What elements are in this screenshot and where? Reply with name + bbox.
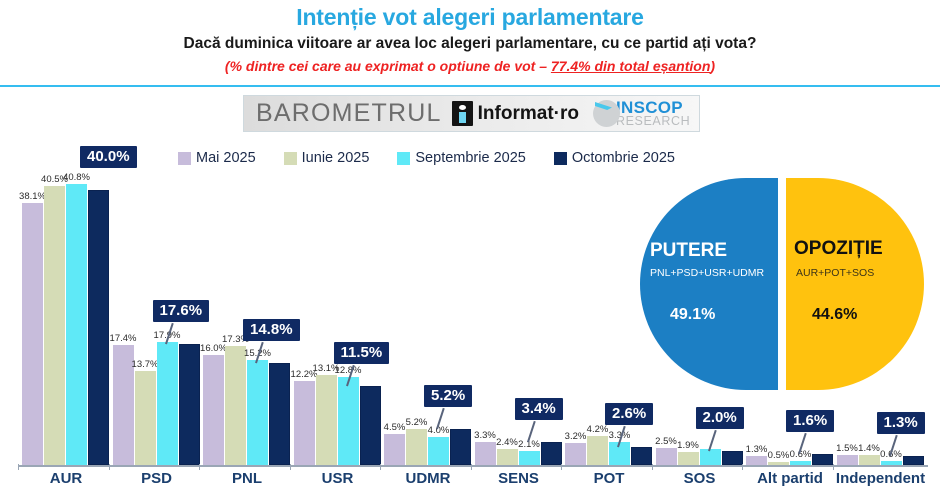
bar-pot-3[interactable]	[631, 447, 652, 465]
bar-psd-1[interactable]: 13.7%	[135, 371, 156, 465]
bar-alt-partid-0[interactable]: 1.3%	[746, 456, 767, 465]
legend-swatch-icon	[284, 152, 297, 165]
bar-value-label: 2.4%	[496, 437, 518, 448]
bar-pot-1[interactable]: 4.2%	[587, 436, 608, 465]
legend-item-1[interactable]: Iunie 2025	[284, 150, 370, 166]
legend-item-0[interactable]: Mai 2025	[178, 150, 256, 166]
legend-label: Septembrie 2025	[415, 150, 525, 166]
bar-pnl-3[interactable]	[269, 363, 290, 465]
highlight-callout-aur: 40.0%	[80, 146, 137, 168]
highlight-callout-udmr: 5.2%	[424, 385, 472, 407]
bar-usr-1[interactable]: 13.1%	[316, 375, 337, 465]
bar-group-psd: 17.4%13.7%17.9%17.6%	[113, 176, 201, 465]
inscop-research-logo: INSCOP RESEARCH	[593, 100, 690, 127]
pie-putere-title: PUTERE	[650, 240, 727, 262]
pie-putere-value: 49.1%	[670, 306, 715, 324]
bar-udmr-1[interactable]: 5.2%	[406, 429, 427, 465]
informat-icon	[452, 101, 473, 126]
bar-sens-0[interactable]: 3.3%	[475, 442, 496, 465]
pie-putere-composition: PNL+PSD+USR+UDMR	[650, 266, 768, 280]
bar-value-label: 5.2%	[406, 417, 428, 428]
bar-aur-1[interactable]: 40.5%	[44, 186, 65, 465]
bar-independent-1[interactable]: 1.4%	[859, 455, 880, 465]
highlight-callout-alt-partid: 1.6%	[786, 410, 834, 432]
bar-group-bars: 38.1%40.5%40.8%	[22, 176, 110, 465]
bar-value-label: 3.2%	[565, 431, 587, 442]
bar-value-label: 17.4%	[110, 333, 137, 344]
informat-ro-logo: Informat·ro	[452, 101, 579, 126]
bar-aur-2[interactable]: 40.8%	[66, 184, 87, 465]
bar-psd-2[interactable]: 17.9%	[157, 342, 178, 465]
legend-swatch-icon	[397, 152, 410, 165]
bar-psd-3[interactable]	[179, 344, 200, 465]
bar-sos-2[interactable]	[700, 449, 721, 465]
bar-value-label: 3.3%	[474, 430, 496, 441]
x-axis-labels: AURPSDPNLUSRUDMRSENSPOTSOSAlt partidInde…	[0, 470, 940, 494]
informat-label: Informat·ro	[478, 103, 579, 125]
bar-alt-partid-3[interactable]	[812, 454, 833, 465]
bar-sos-3[interactable]	[722, 451, 743, 465]
chart-legend: Mai 2025Iunie 2025Septembrie 2025Octombr…	[178, 150, 675, 166]
bar-group-bars: 4.5%5.2%4.0%	[384, 176, 472, 465]
pie-opozitie-composition: AUR+POT+SOS	[796, 266, 920, 280]
bar-alt-partid-1[interactable]: 0.5%	[768, 462, 789, 465]
header-divider	[0, 85, 940, 87]
bar-udmr-3[interactable]	[450, 429, 471, 465]
pie-slice-opozitie: OPOZIȚIE AUR+POT+SOS 44.6%	[786, 178, 924, 390]
bar-value-label: 13.7%	[132, 359, 159, 370]
pie-opozitie-title: OPOZIȚIE	[794, 238, 883, 260]
highlight-callout-independent: 1.3%	[877, 412, 925, 434]
bar-value-label: 2.5%	[655, 436, 677, 447]
highlight-callout-sos: 2.0%	[696, 407, 744, 429]
bar-value-label: 4.5%	[384, 422, 406, 433]
bar-pot-0[interactable]: 3.2%	[565, 443, 586, 465]
bar-group-bars: 12.2%13.1%12.8%	[294, 176, 382, 465]
bar-group-bars: 3.3%2.4%2.1%	[475, 176, 563, 465]
brand-bar: BAROMETRUL Informat·ro INSCOP RESEARCH	[243, 95, 700, 132]
bar-group-udmr: 4.5%5.2%4.0%5.2%	[384, 176, 472, 465]
bar-usr-2[interactable]: 12.8%	[338, 377, 359, 465]
bar-value-label: 4.2%	[587, 424, 609, 435]
pie-slice-putere: PUTERE PNL+PSD+USR+UDMR 49.1%	[640, 178, 778, 390]
highlight-callout-psd: 17.6%	[153, 300, 210, 322]
bar-udmr-2[interactable]: 4.0%	[428, 437, 449, 465]
legend-label: Mai 2025	[196, 150, 256, 166]
bar-sens-2[interactable]: 2.1%	[519, 451, 540, 465]
highlight-callout-sens: 3.4%	[515, 398, 563, 420]
bar-group-usr: 12.2%13.1%12.8%11.5%	[294, 176, 382, 465]
sample-note: (% dintre cei care au exprimat o optiune…	[0, 58, 940, 74]
bar-independent-0[interactable]: 1.5%	[837, 455, 858, 465]
inscop-wordmark: INSCOP RESEARCH	[616, 100, 690, 127]
bar-pnl-2[interactable]: 15.2%	[247, 360, 268, 465]
bar-alt-partid-2[interactable]: 0.6%	[790, 461, 811, 465]
bar-pnl-1[interactable]: 17.3%	[225, 346, 246, 465]
highlight-callout-pnl: 14.8%	[243, 319, 300, 341]
pie-opozitie-value: 44.6%	[812, 306, 857, 324]
bar-value-label: 1.9%	[677, 440, 699, 451]
bar-group-pnl: 16.0%17.3%15.2%14.8%	[203, 176, 291, 465]
bar-independent-2[interactable]: 0.6%	[881, 461, 902, 465]
bar-value-label: 0.5%	[768, 450, 790, 461]
bar-sos-0[interactable]: 2.5%	[656, 448, 677, 465]
bar-value-label: 38.1%	[19, 191, 46, 202]
bar-value-label: 40.8%	[63, 172, 90, 183]
bar-pnl-0[interactable]: 16.0%	[203, 355, 224, 465]
bar-value-label: 1.5%	[836, 443, 858, 454]
header-block: Intenție vot alegeri parlamentare Dacă d…	[0, 0, 940, 86]
bar-usr-0[interactable]: 12.2%	[294, 381, 315, 465]
inscop-circle-icon	[593, 100, 620, 127]
bar-sens-3[interactable]	[541, 442, 562, 465]
bar-usr-3[interactable]	[360, 386, 381, 465]
x-label-independent: Independent	[823, 470, 939, 487]
note-prefix: (% dintre cei care au exprimat o optiune…	[225, 58, 551, 74]
putere-opozitie-pie: PUTERE PNL+PSD+USR+UDMR 49.1% OPOZIȚIE A…	[640, 178, 925, 390]
bar-aur-3[interactable]	[88, 190, 109, 465]
bar-independent-3[interactable]	[903, 456, 924, 465]
legend-label: Iunie 2025	[302, 150, 370, 166]
legend-swatch-icon	[554, 152, 567, 165]
legend-label: Octombrie 2025	[572, 150, 675, 166]
page-subtitle: Dacă duminica viitoare ar avea loc alege…	[0, 35, 940, 53]
bar-group-sens: 3.3%2.4%2.1%3.4%	[475, 176, 563, 465]
bar-value-label: 12.8%	[335, 365, 362, 376]
bar-udmr-0[interactable]: 4.5%	[384, 434, 405, 465]
legend-swatch-icon	[178, 152, 191, 165]
bar-aur-0[interactable]: 38.1%	[22, 203, 43, 465]
highlight-callout-pot: 2.6%	[605, 403, 653, 425]
note-emphasis: 77.4% din total eșantion	[551, 58, 710, 74]
barometrul-wordmark: BAROMETRUL	[256, 99, 442, 128]
bar-pot-2[interactable]: 3.3%	[609, 442, 630, 465]
x-axis-line	[18, 465, 928, 467]
note-suffix: )	[710, 58, 715, 74]
legend-item-2[interactable]: Septembrie 2025	[397, 150, 525, 166]
highlight-callout-usr: 11.5%	[334, 342, 390, 364]
bar-value-label: 4.0%	[428, 425, 450, 436]
page-title: Intenție vot alegeri parlamentare	[0, 4, 940, 31]
bar-sens-1[interactable]: 2.4%	[497, 449, 518, 466]
inscop-research-word: RESEARCH	[616, 116, 690, 128]
bar-group-aur: 38.1%40.5%40.8%40.0%	[22, 176, 110, 465]
inscop-arrow-icon	[595, 100, 612, 110]
bar-sos-1[interactable]: 1.9%	[678, 452, 699, 465]
bar-value-label: 1.4%	[858, 443, 880, 454]
legend-item-3[interactable]: Octombrie 2025	[554, 150, 675, 166]
bar-value-label: 1.3%	[746, 444, 768, 455]
bar-psd-0[interactable]: 17.4%	[113, 345, 134, 465]
